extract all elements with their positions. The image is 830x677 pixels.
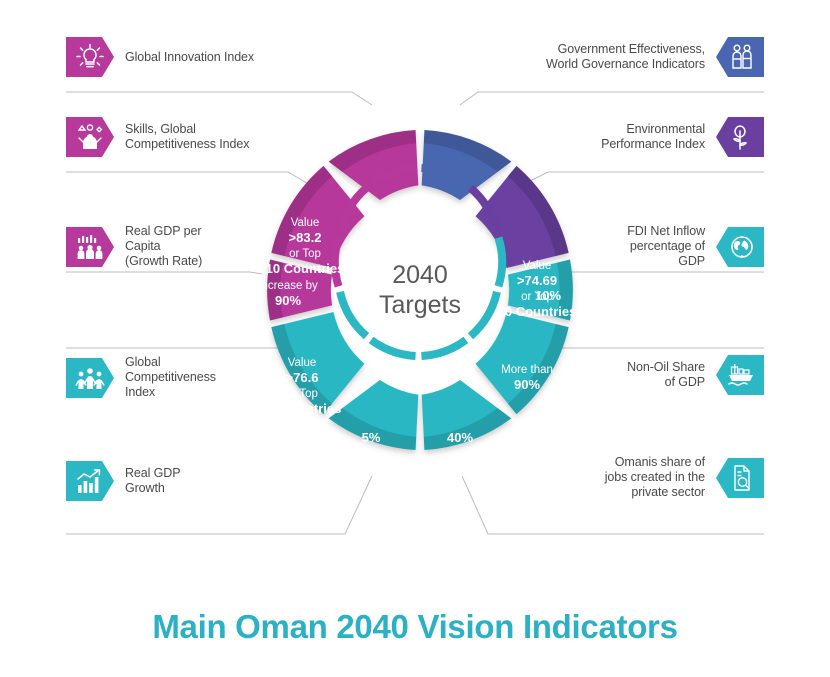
- svg-text:20 Countries: 20 Countries: [343, 248, 422, 263]
- svg-text:90%: 90%: [275, 293, 301, 308]
- svg-text:10%: 10%: [535, 288, 561, 303]
- svg-text:>83.2: >83.2: [289, 230, 322, 245]
- svg-text:Value: Value: [291, 217, 320, 229]
- svg-text:20 Countries: 20 Countries: [498, 304, 577, 319]
- svg-text:or Top: or Top: [286, 388, 318, 400]
- skills-people-icon: [66, 117, 114, 157]
- svg-text:Increase by: Increase by: [258, 280, 318, 292]
- svg-text:Value: Value: [288, 357, 317, 369]
- svg-text:or Top: or Top: [289, 248, 321, 260]
- donut-chart: Value >1.8 or Top 10 Countries Value >74…: [215, 85, 625, 495]
- document-search-icon: [716, 458, 764, 498]
- svg-text:Value: Value: [523, 260, 552, 272]
- svg-text:Value: Value: [445, 204, 474, 216]
- svg-text:90%: 90%: [514, 377, 540, 392]
- population-chart-icon: [66, 227, 114, 267]
- legend-label: Skills, Global Competitiveness Index: [125, 122, 249, 152]
- page-title: Main Oman 2040 Vision Indicators: [0, 608, 830, 646]
- legend-label: Environmental Performance Index: [601, 122, 705, 152]
- svg-text:10 Countries: 10 Countries: [266, 261, 345, 276]
- two-people-icon: [716, 37, 764, 77]
- bar-chart-growth-icon: [66, 461, 114, 501]
- segment-label-fdi-net-inflow: 10%: [535, 288, 561, 303]
- svg-text:>51.98: >51.98: [362, 217, 402, 232]
- segment-label-omanis-share-jobs: 40%: [447, 430, 473, 445]
- svg-text:20 Countries: 20 Countries: [263, 401, 342, 416]
- svg-text:>1.8: >1.8: [446, 217, 472, 232]
- legend-label: Government Effectiveness, World Governan…: [546, 42, 705, 72]
- legend-item-fdi-net-inflow[interactable]: FDI Net Inflow percentage of GDP: [627, 224, 764, 269]
- svg-text:40%: 40%: [447, 430, 473, 445]
- svg-text:or Top: or Top: [366, 235, 398, 247]
- legend-item-real-gdp-per-capita[interactable]: Real GDP per Capita (Growth Rate): [66, 224, 202, 269]
- svg-text:5%: 5%: [362, 430, 381, 445]
- legend-label: Real GDP per Capita (Growth Rate): [125, 224, 202, 269]
- legend-label: FDI Net Inflow percentage of GDP: [627, 224, 705, 269]
- infographic-canvas: Value >1.8 or Top 10 Countries Value >74…: [0, 0, 830, 677]
- legend-item-government-effectiveness[interactable]: Government Effectiveness, World Governan…: [546, 37, 764, 77]
- globe-icon: [716, 227, 764, 267]
- people-group-icon: [66, 358, 114, 398]
- svg-text:>76.6: >76.6: [286, 370, 319, 385]
- svg-text:10 Countries: 10 Countries: [420, 248, 499, 263]
- svg-text:More than: More than: [501, 364, 553, 376]
- legend-item-non-oil-share[interactable]: Non-Oil Share of GDP: [627, 355, 764, 395]
- cargo-ship-icon: [716, 355, 764, 395]
- svg-text:or Top: or Top: [443, 235, 475, 247]
- legend-label: Global Innovation Index: [125, 50, 254, 65]
- lightbulb-icon: [66, 37, 114, 77]
- svg-text:>74.69: >74.69: [517, 273, 557, 288]
- legend-item-real-gdp-growth[interactable]: Real GDP Growth: [66, 461, 180, 501]
- legend-label: Non-Oil Share of GDP: [627, 360, 705, 390]
- legend-item-omanis-share-jobs[interactable]: Omanis share of jobs created in the priv…: [605, 455, 764, 500]
- legend-item-global-innovation-index[interactable]: Global Innovation Index: [66, 37, 254, 77]
- legend-item-skills-global-competitiveness[interactable]: Skills, Global Competitiveness Index: [66, 117, 249, 157]
- segment-label-real-gdp-growth: 5%: [362, 430, 381, 445]
- legend-item-environmental-performance-index[interactable]: Environmental Performance Index: [601, 117, 764, 157]
- legend-item-global-competitiveness-index[interactable]: Global Competitiveness Index: [66, 355, 216, 400]
- legend-label: Global Competitiveness Index: [125, 355, 216, 400]
- legend-label: Real GDP Growth: [125, 466, 180, 496]
- leaf-plant-icon: [716, 117, 764, 157]
- legend-label: Omanis share of jobs created in the priv…: [605, 455, 705, 500]
- svg-text:Value: Value: [368, 204, 397, 216]
